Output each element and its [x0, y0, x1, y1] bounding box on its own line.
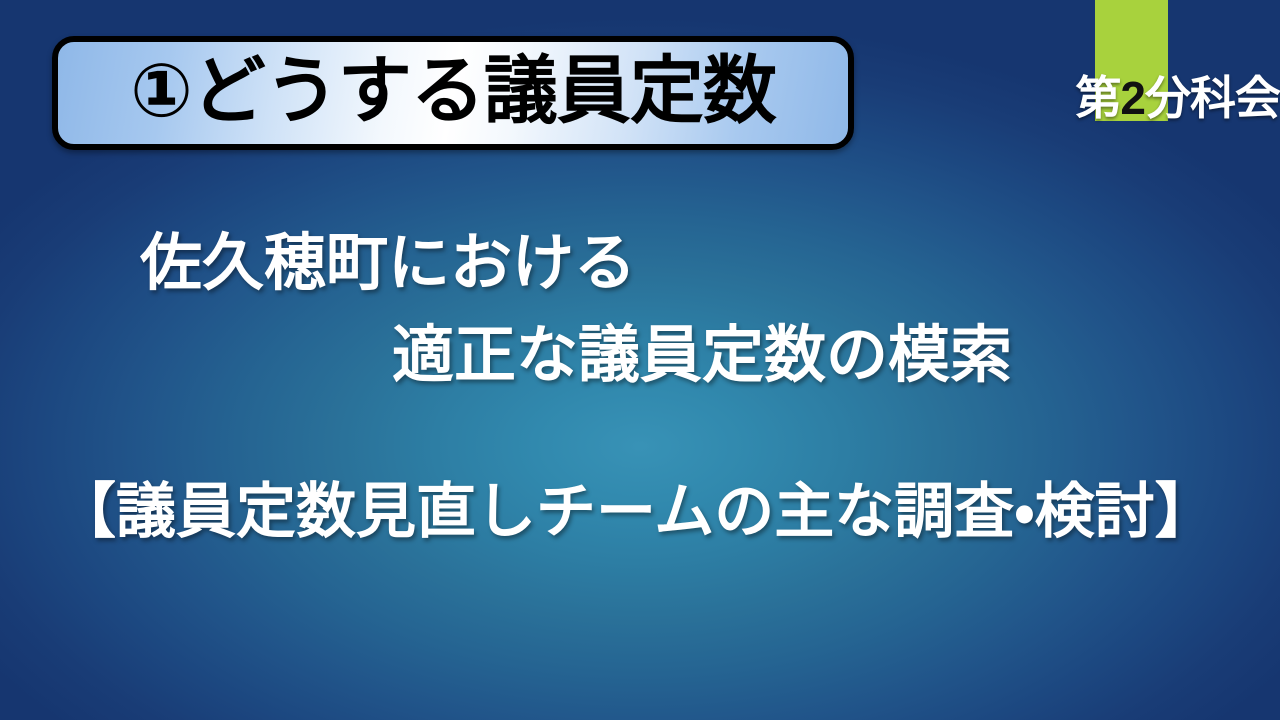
section-label-number: 2 — [1120, 72, 1145, 124]
title-box: ①どうする議員定数 — [52, 36, 854, 150]
body-line-1: 佐久穂町における — [0, 232, 1280, 294]
section-label-suffix: 分科会 — [1145, 71, 1280, 125]
slide-title: ①どうする議員定数 — [130, 54, 776, 132]
body-text-block: 佐久穂町における 適正な議員定数の模索 【議員定数見直しチームの主な調査・検討】 — [0, 232, 1280, 542]
body-line-2: 適正な議員定数の模索 — [0, 324, 1280, 386]
section-label-prefix: 第 — [1075, 71, 1120, 125]
presentation-slide: 第2分科会 ①どうする議員定数 佐久穂町における 適正な議員定数の模索 【議員定… — [0, 0, 1280, 720]
body-line-3: 【議員定数見直しチームの主な調査・検討】 — [0, 482, 1280, 542]
section-label: 第2分科会 — [1075, 66, 1280, 130]
